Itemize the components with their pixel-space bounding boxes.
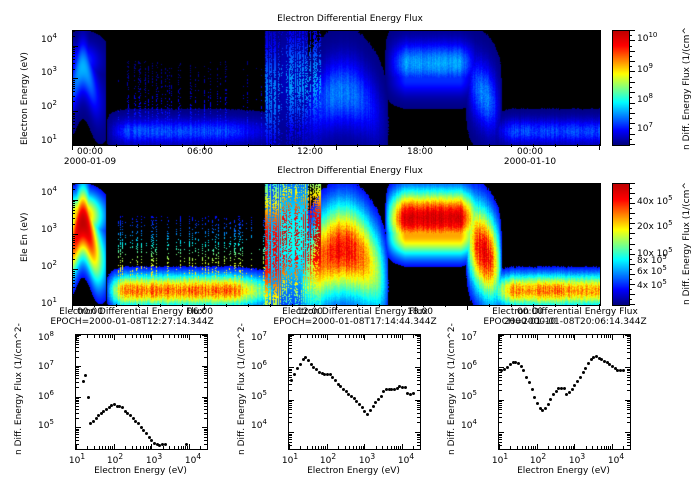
- axis-tick: [417, 345, 420, 346]
- axis-tick: [289, 434, 292, 435]
- axis-tick: [87, 335, 88, 338]
- axis-tick: [76, 409, 79, 410]
- axis-tick: [72, 183, 75, 184]
- axis-tick: [417, 407, 420, 408]
- axis-tick: [76, 437, 79, 438]
- data-point: [374, 401, 377, 404]
- axis-tick: [417, 422, 420, 423]
- axis-tick: [189, 444, 190, 449]
- axis-tick: [204, 406, 207, 407]
- axis-tick: [548, 446, 549, 449]
- data-point: [380, 395, 383, 398]
- axis-tick: [630, 335, 631, 338]
- axis-tick: [72, 51, 75, 52]
- axis-tick: [499, 377, 502, 378]
- axis-tick: [72, 144, 73, 150]
- axis-tick: [517, 335, 518, 338]
- axis-tick: [604, 335, 605, 338]
- axis-tick: [499, 380, 502, 381]
- spectrum-1-xtick-2: 102: [100, 452, 130, 466]
- spectrum-1-xtick-3: 103: [139, 452, 169, 466]
- colorbar-tick: [629, 228, 632, 229]
- axis-tick: [382, 446, 383, 449]
- axis-tick: [204, 144, 205, 150]
- axis-tick: [511, 304, 512, 307]
- axis-tick: [76, 403, 79, 404]
- colorbar-tick: [629, 274, 635, 275]
- data-point: [571, 388, 574, 391]
- axis-tick: [72, 118, 75, 119]
- axis-tick: [555, 446, 556, 449]
- colorbar-top-label: n Diff. Energy Flux (1/(cm^: [682, 27, 692, 150]
- axis-tick: [555, 304, 556, 307]
- axis-tick: [76, 373, 79, 374]
- axis-tick: [356, 446, 357, 449]
- axis-tick: [72, 253, 75, 254]
- spectrogram-mid-title: Electron Differential Energy Flux: [200, 166, 500, 177]
- axis-tick: [289, 449, 292, 450]
- axis-tick: [289, 400, 294, 401]
- axis-tick: [76, 401, 79, 402]
- spectrum-2-xtick-2: 102: [313, 452, 343, 466]
- axis-tick: [207, 335, 208, 338]
- axis-tick: [289, 348, 292, 349]
- axis-tick: [204, 344, 207, 345]
- axis-tick: [148, 335, 149, 338]
- axis-tick: [204, 409, 207, 410]
- axis-tick: [226, 144, 227, 147]
- spectrum-3-xtick-1: 101: [485, 452, 515, 466]
- axis-tick: [417, 377, 420, 378]
- y-tick-mid-2: 102: [41, 259, 57, 272]
- axis-tick: [499, 407, 502, 408]
- axis-tick: [289, 345, 292, 346]
- spectrogram-top-title: Electron Differential Energy Flux: [200, 14, 500, 25]
- data-point: [87, 396, 90, 399]
- data-point: [372, 405, 375, 408]
- data-point: [568, 391, 571, 394]
- x-tick-top-1: 06:00: [176, 147, 224, 157]
- axis-tick: [72, 47, 75, 48]
- axis-tick: [604, 446, 605, 449]
- data-point: [547, 403, 550, 406]
- axis-tick: [357, 144, 358, 147]
- axis-tick: [204, 429, 207, 430]
- axis-tick: [105, 446, 106, 449]
- axis-tick: [76, 440, 79, 441]
- axis-tick: [499, 336, 502, 337]
- axis-tick: [608, 335, 609, 338]
- axis-tick: [289, 401, 292, 402]
- axis-tick: [289, 338, 292, 339]
- axis-tick: [627, 407, 630, 408]
- axis-tick: [627, 342, 630, 343]
- axis-tick: [76, 406, 79, 407]
- axis-tick: [72, 53, 75, 54]
- data-point: [579, 376, 582, 379]
- axis-tick: [379, 304, 380, 307]
- axis-tick: [72, 78, 78, 79]
- axis-tick: [160, 304, 161, 307]
- axis-tick: [204, 403, 207, 404]
- spectrogram-top-ylabel: Electron Energy (eV): [20, 52, 30, 145]
- axis-tick: [76, 382, 79, 383]
- axis-tick: [627, 336, 630, 337]
- colorbar-tick: [629, 123, 635, 124]
- axis-tick: [314, 304, 315, 307]
- data-point: [528, 381, 531, 384]
- colorbar-top: [612, 30, 630, 146]
- colorbar-tick: [629, 244, 635, 245]
- axis-tick: [289, 442, 292, 443]
- axis-tick: [72, 46, 78, 47]
- axis-tick: [202, 427, 207, 428]
- axis-tick: [72, 242, 75, 243]
- spectrum-3-subtitle: EPOCH=2000-01-08T20:06:14.344Z: [455, 317, 675, 328]
- axis-tick: [627, 403, 630, 404]
- axis-tick: [338, 446, 339, 449]
- axis-tick: [105, 335, 106, 338]
- axis-tick: [627, 380, 630, 381]
- axis-tick: [72, 101, 75, 102]
- axis-tick: [94, 446, 95, 449]
- cb-mid-tick-20: 20x 105: [637, 219, 673, 232]
- axis-tick: [76, 371, 79, 372]
- axis-tick: [76, 413, 79, 414]
- axis-tick: [417, 405, 420, 406]
- spectrum-1-ytick-6: 106: [38, 389, 54, 402]
- axis-tick: [72, 240, 75, 241]
- axis-tick: [289, 437, 292, 438]
- axis-tick: [499, 345, 502, 346]
- axis-tick: [94, 304, 95, 307]
- axis-tick: [99, 446, 100, 449]
- axis-tick: [499, 437, 502, 438]
- colorbar-tick: [629, 144, 635, 145]
- axis-tick: [467, 304, 468, 310]
- colorbar-tick: [629, 284, 635, 285]
- axis-tick: [559, 446, 560, 449]
- data-point: [563, 387, 566, 390]
- axis-tick: [571, 446, 572, 449]
- axis-tick: [76, 397, 81, 398]
- data-point: [404, 386, 407, 389]
- axis-tick: [499, 367, 504, 368]
- axis-tick: [72, 210, 75, 211]
- axis-tick: [566, 335, 567, 338]
- data-point: [536, 402, 539, 405]
- colorbar-tick: [629, 289, 632, 290]
- axis-tick: [627, 352, 630, 353]
- axis-tick: [627, 384, 630, 385]
- axis-tick: [318, 446, 319, 449]
- axis-tick: [499, 352, 502, 353]
- axis-tick: [592, 335, 593, 338]
- axis-tick: [204, 357, 207, 358]
- axis-tick: [76, 430, 79, 431]
- axis-tick: [204, 434, 207, 435]
- data-point: [531, 388, 534, 391]
- axis-tick: [417, 439, 420, 440]
- colorbar-tick: [629, 82, 635, 83]
- colorbar-tick: [629, 294, 635, 295]
- axis-tick: [627, 338, 630, 339]
- axis-tick: [76, 351, 79, 352]
- axis-tick: [204, 387, 207, 388]
- axis-tick: [398, 335, 399, 338]
- axis-tick: [548, 335, 549, 338]
- axis-tick: [289, 407, 292, 408]
- colorbar-tick: [629, 264, 635, 265]
- axis-tick: [72, 80, 75, 81]
- axis-tick: [72, 84, 75, 85]
- axis-tick: [592, 446, 593, 449]
- axis-tick: [327, 335, 328, 340]
- axis-tick: [417, 336, 420, 337]
- axis-tick: [110, 335, 111, 338]
- spectrum-1-ylabel: n Diff. Energy Flux (1/(cm^2-: [14, 323, 24, 455]
- data-point: [92, 420, 95, 423]
- axis-tick: [499, 372, 502, 373]
- axis-tick: [417, 372, 420, 373]
- colorbar-tick: [629, 188, 632, 189]
- axis-tick: [72, 49, 75, 50]
- axis-tick: [601, 335, 602, 338]
- axis-tick: [76, 357, 79, 358]
- axis-tick: [537, 444, 538, 449]
- axis-tick: [76, 369, 79, 370]
- colorbar-tick: [629, 103, 635, 104]
- axis-tick: [207, 446, 208, 449]
- data-point: [82, 380, 85, 383]
- axis-tick: [415, 367, 420, 368]
- colorbar-tick: [629, 193, 635, 194]
- axis-tick: [612, 335, 613, 340]
- x-tick-top-0: 00:00: [66, 147, 114, 157]
- axis-tick: [289, 403, 292, 404]
- axis-tick: [72, 116, 75, 117]
- axis-tick: [76, 367, 79, 368]
- axis-tick: [627, 435, 630, 436]
- spectrum-2-xlabel: Electron Energy (eV): [288, 466, 419, 476]
- axis-tick: [72, 82, 75, 83]
- axis-tick: [72, 234, 78, 235]
- axis-tick: [204, 369, 207, 370]
- axis-tick: [72, 294, 75, 295]
- axis-tick: [292, 144, 293, 147]
- axis-tick: [72, 128, 75, 129]
- y-tick-top-4: 104: [41, 32, 57, 45]
- axis-tick: [357, 304, 358, 307]
- axis-tick: [72, 273, 75, 274]
- axis-tick: [499, 348, 502, 349]
- axis-tick: [289, 422, 292, 423]
- axis-tick: [420, 446, 421, 449]
- axis-tick: [314, 144, 315, 147]
- axis-tick: [125, 446, 126, 449]
- axis-tick: [307, 446, 308, 449]
- axis-tick: [606, 335, 607, 338]
- colorbar-tick: [629, 87, 632, 88]
- axis-tick: [146, 446, 147, 449]
- axis-tick: [577, 304, 578, 307]
- axis-tick: [387, 335, 388, 338]
- axis-tick: [72, 111, 78, 112]
- axis-tick: [525, 335, 526, 338]
- colorbar-tick: [629, 97, 632, 98]
- axis-tick: [151, 444, 152, 449]
- axis-tick: [72, 207, 75, 208]
- spectrum-1-ytick-5: 105: [38, 418, 54, 431]
- axis-tick: [289, 435, 292, 436]
- data-point: [533, 396, 536, 399]
- axis-tick: [204, 413, 207, 414]
- axis-tick: [143, 446, 144, 449]
- axis-tick: [398, 446, 399, 449]
- axis-tick: [376, 446, 377, 449]
- axis-tick: [349, 335, 350, 338]
- colorbar-tick: [629, 118, 632, 119]
- colorbar-tick: [629, 35, 632, 36]
- colorbar-tick: [629, 233, 635, 234]
- axis-tick: [364, 335, 365, 340]
- axis-tick: [72, 218, 75, 219]
- axis-tick: [204, 375, 207, 376]
- axis-tick: [76, 432, 79, 433]
- axis-tick: [72, 96, 75, 97]
- axis-tick: [289, 372, 292, 373]
- axis-tick: [394, 335, 395, 338]
- axis-tick: [528, 446, 529, 449]
- axis-tick: [204, 347, 207, 348]
- axis-tick: [499, 358, 502, 359]
- axis-tick: [315, 335, 316, 338]
- axis-tick: [627, 437, 630, 438]
- axis-tick: [533, 304, 534, 307]
- axis-tick: [606, 446, 607, 449]
- axis-tick: [72, 203, 75, 204]
- axis-tick: [72, 124, 75, 125]
- axis-tick: [533, 144, 534, 147]
- axis-tick: [323, 335, 324, 338]
- axis-tick: [420, 335, 421, 338]
- axis-tick: [204, 401, 207, 402]
- axis-tick: [423, 144, 424, 147]
- axis-tick: [627, 372, 630, 373]
- axis-tick: [401, 144, 402, 147]
- axis-tick: [336, 304, 337, 310]
- axis-tick: [625, 432, 630, 433]
- spectrogram-mid-axes: [72, 183, 601, 306]
- axis-tick: [415, 335, 420, 336]
- data-point: [137, 422, 140, 425]
- axis-tick: [417, 445, 420, 446]
- axis-tick: [248, 144, 249, 147]
- axis-tick: [499, 369, 502, 370]
- axis-tick: [627, 422, 630, 423]
- axis-tick: [625, 367, 630, 368]
- axis-tick: [72, 113, 75, 114]
- spectrum-2-subtitle: EPOCH=2000-01-08T17:14:44.344Z: [245, 317, 465, 328]
- axis-tick: [108, 335, 109, 338]
- axis-tick: [148, 446, 149, 449]
- axis-tick: [102, 335, 103, 338]
- axis-tick: [204, 440, 207, 441]
- data-point: [145, 432, 148, 435]
- spectrum-3-xtick-2: 102: [523, 452, 553, 466]
- axis-tick: [132, 335, 133, 338]
- axis-tick: [627, 358, 630, 359]
- axis-tick: [627, 401, 630, 402]
- axis-tick: [566, 446, 567, 449]
- axis-tick: [312, 446, 313, 449]
- data-point: [622, 369, 625, 372]
- axis-tick: [200, 446, 201, 449]
- axis-tick: [76, 375, 79, 376]
- axis-tick: [181, 446, 182, 449]
- axis-tick: [183, 335, 184, 338]
- axis-tick: [571, 335, 572, 338]
- spectrum-1-xtick-1: 101: [62, 452, 92, 466]
- colorbar-tick: [629, 134, 635, 135]
- axis-tick: [574, 335, 575, 340]
- axis-tick: [627, 369, 630, 370]
- axis-tick: [76, 347, 79, 348]
- data-point: [584, 367, 587, 370]
- colorbar-tick: [629, 208, 632, 209]
- axis-tick: [489, 304, 490, 307]
- colorbar-tick: [629, 77, 632, 78]
- axis-tick: [525, 446, 526, 449]
- axis-tick: [499, 375, 502, 376]
- axis-tick: [143, 335, 144, 338]
- axis-tick: [270, 144, 271, 147]
- axis-tick: [116, 304, 117, 307]
- axis-tick: [76, 398, 79, 399]
- cb-top-tick-9: 109: [637, 62, 653, 75]
- axis-tick: [72, 121, 75, 122]
- axis-tick: [204, 400, 207, 401]
- axis-tick: [627, 417, 630, 418]
- axis-tick: [489, 144, 490, 147]
- axis-tick: [627, 413, 630, 414]
- axis-tick: [204, 449, 207, 450]
- spectrum-2-xtick-4: 104: [391, 452, 421, 466]
- axis-tick: [499, 338, 502, 339]
- axis-tick: [202, 366, 207, 367]
- axis-tick: [202, 335, 207, 336]
- axis-tick: [338, 335, 339, 338]
- axis-tick: [623, 446, 624, 449]
- axis-tick: [204, 373, 207, 374]
- spectrum-1-xlabel: Electron Energy (eV): [75, 466, 206, 476]
- axis-tick: [417, 449, 420, 450]
- data-point: [552, 393, 555, 396]
- data-point: [412, 392, 415, 395]
- axis-tick: [136, 446, 137, 449]
- spectrum-3-xtick-3: 103: [562, 452, 592, 466]
- axis-tick: [102, 446, 103, 449]
- axis-tick: [226, 304, 227, 307]
- colorbar-tick: [629, 92, 635, 93]
- axis-tick: [76, 449, 79, 450]
- axis-tick: [182, 144, 183, 147]
- axis-tick: [323, 446, 324, 449]
- axis-tick: [72, 275, 75, 276]
- axis-tick: [76, 387, 79, 388]
- axis-tick: [531, 446, 532, 449]
- axis-tick: [417, 435, 420, 436]
